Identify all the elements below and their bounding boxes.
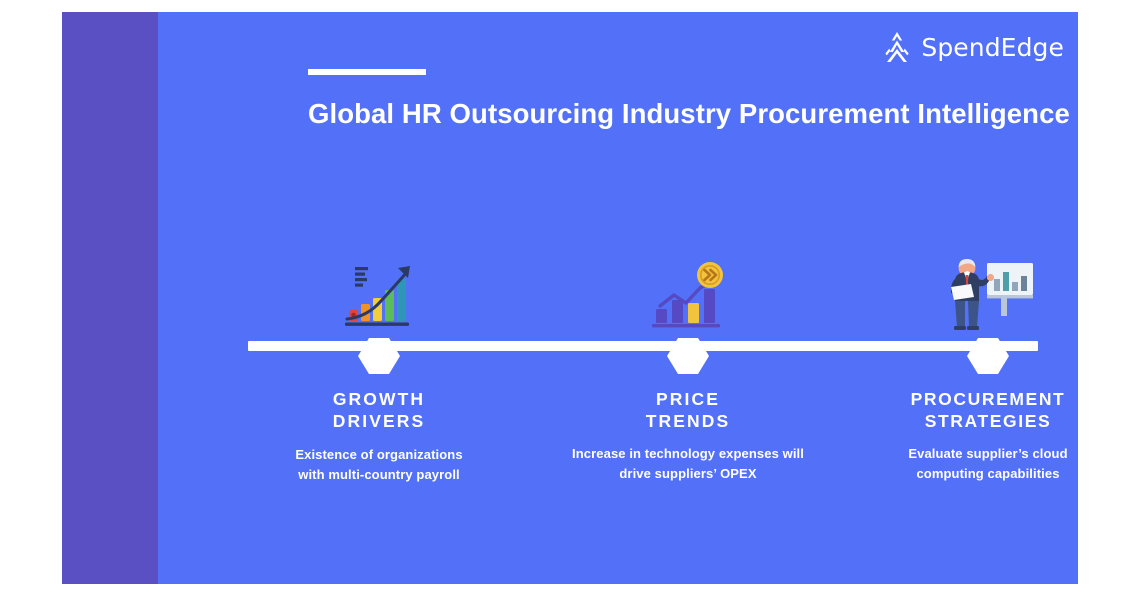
node-heading: GROWTH DRIVERS <box>259 388 499 432</box>
slide-sidebar-band <box>62 12 158 584</box>
timeline-node-price-trends[interactable]: PRICE TRENDS Increase in technology expe… <box>568 253 808 484</box>
growth-bar-chart-arrow-icon <box>259 253 499 331</box>
presenter-whiteboard-icon <box>868 253 1078 331</box>
node-heading: PRICE TRENDS <box>568 388 808 432</box>
node-description: Increase in technology expenses will dri… <box>568 444 808 484</box>
timeline-hexagon-marker <box>667 338 709 374</box>
presentation-slide: SpendEdge Global HR Outsourcing Industry… <box>62 12 1078 584</box>
node-heading: PROCUREMENT STRATEGIES <box>868 388 1078 432</box>
timeline-hexagon-marker <box>967 338 1009 374</box>
timeline: GROWTH DRIVERS Existence of organization… <box>158 12 1078 584</box>
price-trend-chart-coin-icon <box>568 253 808 331</box>
timeline-node-growth-drivers[interactable]: GROWTH DRIVERS Existence of organization… <box>259 253 499 485</box>
screenshot-canvas: SpendEdge Global HR Outsourcing Industry… <box>0 0 1140 596</box>
timeline-hexagon-marker <box>358 338 400 374</box>
node-description: Evaluate supplier’s cloud computing capa… <box>868 444 1078 484</box>
timeline-node-procurement-strategies[interactable]: PROCUREMENT STRATEGIES Evaluate supplier… <box>868 253 1078 484</box>
node-description: Existence of organizations with multi-co… <box>259 445 499 485</box>
slide-content: SpendEdge Global HR Outsourcing Industry… <box>158 12 1078 584</box>
